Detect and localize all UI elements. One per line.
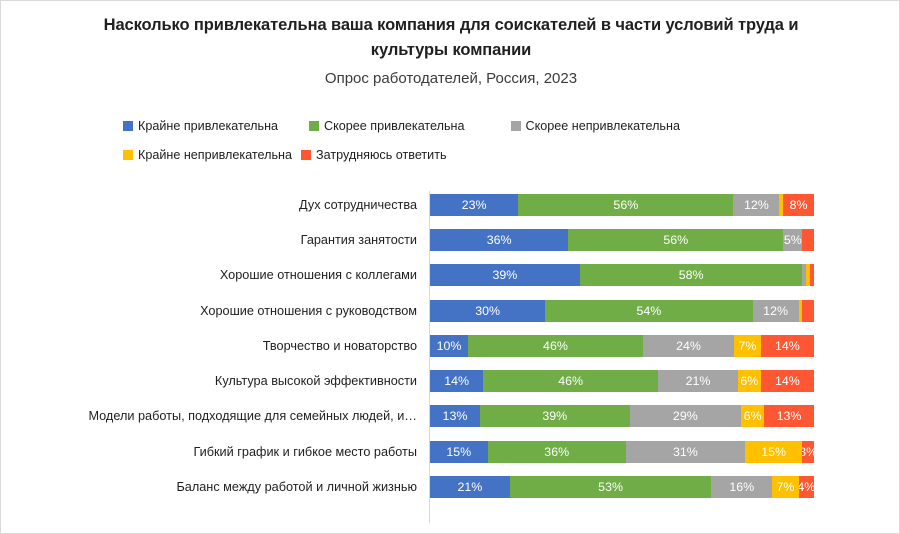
bar-segment[interactable]: 14% xyxy=(761,370,814,392)
bar-segment[interactable]: 31% xyxy=(626,441,745,463)
bar-segment[interactable]: 53% xyxy=(510,476,712,498)
bar-row: Хорошие отношения с коллегами39%58% xyxy=(1,258,900,293)
bar-segment[interactable]: 3% xyxy=(802,441,814,463)
bar-segment[interactable]: 30% xyxy=(430,300,545,322)
category-label: Творчество и новаторство xyxy=(1,328,423,363)
bar-segment[interactable]: 46% xyxy=(483,370,658,392)
stacked-bar[interactable]: 36%56%5% xyxy=(430,229,814,251)
bar-row: Хорошие отношения с руководством30%54%12… xyxy=(1,293,900,328)
legend-item-4[interactable]: Затрудняюсь ответить xyxy=(301,148,447,162)
bar-segment[interactable]: 15% xyxy=(745,441,803,463)
bar-segment[interactable]: 13% xyxy=(764,405,814,427)
stacked-bar[interactable]: 10%46%24%7%14% xyxy=(430,335,814,357)
bar-segment[interactable]: 21% xyxy=(430,476,510,498)
stacked-bar[interactable]: 15%36%31%15%3% xyxy=(430,441,814,463)
bar-segment[interactable]: 7% xyxy=(772,476,799,498)
bar-segment[interactable]: 56% xyxy=(518,194,733,216)
category-label: Культура высокой эффективности xyxy=(1,363,423,398)
plot-area: Дух сотрудничества23%56%12%8%Гарантия за… xyxy=(1,187,900,527)
bar-track: 30%54%12% xyxy=(430,293,814,328)
legend-label-4: Затрудняюсь ответить xyxy=(316,148,447,162)
stacked-bar[interactable]: 21%53%16%7%4% xyxy=(430,476,814,498)
stacked-bar[interactable]: 39%58% xyxy=(430,264,814,286)
category-label: Гибкий график и гибкое место работы xyxy=(1,434,423,469)
legend-item-1[interactable]: Скорее привлекательна xyxy=(309,119,464,133)
bar-segment[interactable]: 58% xyxy=(580,264,803,286)
bar-segment[interactable]: 6% xyxy=(738,370,761,392)
legend-label-0: Крайне привлекательна xyxy=(138,119,278,133)
legend-label-3: Крайне непривлекательна xyxy=(138,148,292,162)
bar-segment[interactable]: 12% xyxy=(753,300,799,322)
legend-label-1: Скорее привлекательна xyxy=(324,119,464,133)
bar-segment[interactable]: 14% xyxy=(430,370,483,392)
category-label: Баланс между работой и личной жизнью xyxy=(1,469,423,504)
bar-segment[interactable]: 12% xyxy=(733,194,779,216)
category-label: Модели работы, подходящие для семейных л… xyxy=(1,399,423,434)
legend-item-3[interactable]: Крайне непривлекательна xyxy=(123,148,292,162)
bar-segment[interactable] xyxy=(810,264,814,286)
chart-legend: Крайне привлекательна Скорее привлекател… xyxy=(123,115,803,173)
legend-swatch-icon-4 xyxy=(301,150,311,160)
bar-segment[interactable]: 29% xyxy=(630,405,741,427)
bar-segment[interactable]: 8% xyxy=(783,194,814,216)
legend-swatch-icon-2 xyxy=(511,121,521,131)
bar-segment[interactable]: 36% xyxy=(430,229,568,251)
legend-item-0[interactable]: Крайне привлекательна xyxy=(123,119,278,133)
bar-segment[interactable]: 21% xyxy=(658,370,738,392)
bar-segment[interactable]: 23% xyxy=(430,194,518,216)
bar-segment[interactable]: 4% xyxy=(799,476,814,498)
bar-track: 15%36%31%15%3% xyxy=(430,434,814,469)
bar-segment[interactable] xyxy=(802,300,814,322)
bar-segment[interactable]: 39% xyxy=(480,405,630,427)
legend-label-2: Скорее непривлекательна xyxy=(526,119,680,133)
stacked-bar[interactable]: 14%46%21%6%14% xyxy=(430,370,814,392)
stacked-bar[interactable]: 30%54%12% xyxy=(430,300,814,322)
bar-row: Баланс между работой и личной жизнью21%5… xyxy=(1,469,900,504)
bar-track: 10%46%24%7%14% xyxy=(430,328,814,363)
bar-track: 21%53%16%7%4% xyxy=(430,469,814,504)
bar-track: 13%39%29%6%13% xyxy=(430,399,814,434)
bar-track: 39%58% xyxy=(430,258,814,293)
legend-swatch-icon-0 xyxy=(123,121,133,131)
bar-segment[interactable]: 16% xyxy=(711,476,772,498)
page-title: Насколько привлекательна ваша компания д… xyxy=(1,13,900,63)
bar-segment[interactable] xyxy=(802,229,814,251)
bar-track: 36%56%5% xyxy=(430,222,814,257)
bar-segment[interactable]: 24% xyxy=(643,335,734,357)
bar-segment[interactable]: 10% xyxy=(430,335,468,357)
bar-row: Гарантия занятости36%56%5% xyxy=(1,222,900,257)
bar-segment[interactable]: 56% xyxy=(568,229,783,251)
title-block: Насколько привлекательна ваша компания д… xyxy=(1,13,900,90)
chart-subtitle: Опрос работодателей, Россия, 2023 xyxy=(1,68,900,90)
bar-segment[interactable]: 13% xyxy=(430,405,480,427)
bar-rows: Дух сотрудничества23%56%12%8%Гарантия за… xyxy=(1,187,900,505)
category-label: Хорошие отношения с руководством xyxy=(1,293,423,328)
bar-segment[interactable]: 5% xyxy=(783,229,802,251)
stacked-bar[interactable]: 13%39%29%6%13% xyxy=(430,405,814,427)
bar-segment[interactable]: 46% xyxy=(468,335,643,357)
bar-track: 23%56%12%8% xyxy=(430,187,814,222)
bar-track: 14%46%21%6%14% xyxy=(430,363,814,398)
bar-row: Творчество и новаторство10%46%24%7%14% xyxy=(1,328,900,363)
legend-row-2: Крайне непривлекательна Затрудняюсь отве… xyxy=(123,144,803,166)
legend-item-2[interactable]: Скорее непривлекательна xyxy=(511,119,680,133)
bar-segment[interactable]: 7% xyxy=(734,335,761,357)
legend-row-1: Крайне привлекательна Скорее привлекател… xyxy=(123,115,803,137)
bar-segment[interactable]: 14% xyxy=(761,335,814,357)
category-label: Хорошие отношения с коллегами xyxy=(1,258,423,293)
legend-swatch-icon-1 xyxy=(309,121,319,131)
bar-segment[interactable]: 15% xyxy=(430,441,488,463)
bar-row: Гибкий график и гибкое место работы15%36… xyxy=(1,434,900,469)
legend-swatch-icon-3 xyxy=(123,150,133,160)
bar-segment[interactable]: 6% xyxy=(741,405,764,427)
category-label: Дух сотрудничества xyxy=(1,187,423,222)
bar-segment[interactable]: 36% xyxy=(488,441,626,463)
bar-row: Модели работы, подходящие для семейных л… xyxy=(1,399,900,434)
bar-row: Дух сотрудничества23%56%12%8% xyxy=(1,187,900,222)
stacked-bar[interactable]: 23%56%12%8% xyxy=(430,194,814,216)
chart-container: Насколько привлекательна ваша компания д… xyxy=(0,0,900,534)
bar-segment[interactable]: 54% xyxy=(545,300,752,322)
bar-segment[interactable]: 39% xyxy=(430,264,580,286)
category-label: Гарантия занятости xyxy=(1,222,423,257)
bar-row: Культура высокой эффективности14%46%21%6… xyxy=(1,363,900,398)
